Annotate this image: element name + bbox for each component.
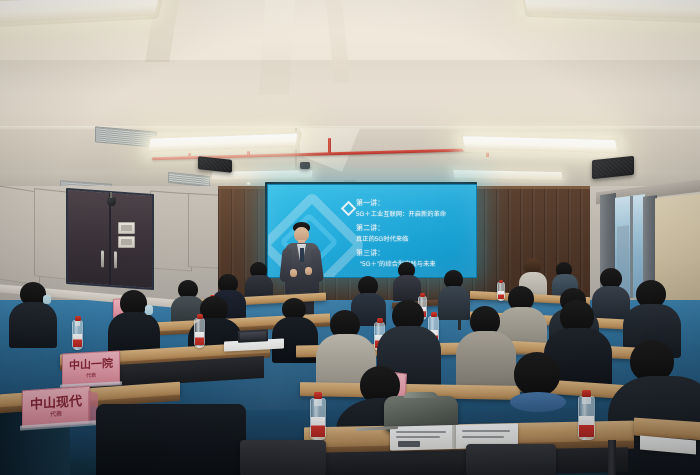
face-mask xyxy=(43,295,51,304)
namecard-text-secondary: 代表 xyxy=(86,373,96,379)
notebook-textline-2 xyxy=(396,436,440,438)
slide-line-4: 第三讲： xyxy=(356,249,384,259)
hood-collar xyxy=(510,392,566,412)
sprinkler-riser-center xyxy=(328,138,331,154)
laptop-on-desk[interactable] xyxy=(238,329,268,343)
notebook-inset-box xyxy=(398,441,420,447)
door-handle-left xyxy=(101,250,104,267)
window-mullion xyxy=(630,196,633,298)
sprinkler-head-c xyxy=(247,151,250,156)
slide-line-3: 真正的5G时代来临 xyxy=(356,236,408,245)
conference-room-photo: 第一讲： 5G＋工业互联网：开启新的革命 第二讲： 真正的5G时代来临 第三讲：… xyxy=(0,0,700,475)
presenter-hand-left xyxy=(290,269,297,277)
wall-panel-left-2 xyxy=(34,188,70,280)
notebook-textline-3 xyxy=(462,430,510,432)
namecard-text-primary: 中山一院 xyxy=(69,358,113,371)
water-bottle-far-1 xyxy=(497,282,505,301)
notebook-spine xyxy=(452,425,456,449)
light-switch-plate-lower[interactable] xyxy=(118,236,135,248)
ceiling-shadow-band xyxy=(0,60,700,94)
namecard-text-primary: 中山现代 xyxy=(30,394,82,411)
water-bottle-fg-right xyxy=(578,396,595,440)
presenter-tie xyxy=(300,248,304,262)
water-bottle-row3-2 xyxy=(194,318,205,348)
camera-bracket xyxy=(110,192,112,198)
water-bottle-row3-1 xyxy=(72,320,83,350)
desk-foreground-leg xyxy=(608,440,616,475)
slide-line-1: 5G＋工业互联网：开启新的革命 xyxy=(356,211,446,220)
downlight-b xyxy=(246,182,251,185)
chair-foreground-center xyxy=(466,444,556,475)
slide-bullet-diamond xyxy=(341,201,357,217)
slide-line-2: 第二讲： xyxy=(356,224,384,234)
door-handle-right xyxy=(114,251,117,268)
backpack-handle xyxy=(404,392,438,398)
namecard-text-secondary: 代表 xyxy=(50,412,62,419)
notebook-textline-1 xyxy=(396,431,446,433)
chair-foreground-left xyxy=(240,440,326,475)
wall-panel-left-3 xyxy=(150,191,192,272)
light-switch-plate-upper[interactable] xyxy=(118,222,135,234)
presenter-hand-right xyxy=(305,267,312,275)
wall-security-camera xyxy=(107,197,116,206)
water-bottle-fg-left xyxy=(310,398,326,440)
ceiling-speaker-center xyxy=(300,162,310,169)
notebook-textline-4 xyxy=(462,436,504,438)
face-mask xyxy=(145,305,153,315)
slide-line-0: 第一讲： xyxy=(356,199,384,209)
